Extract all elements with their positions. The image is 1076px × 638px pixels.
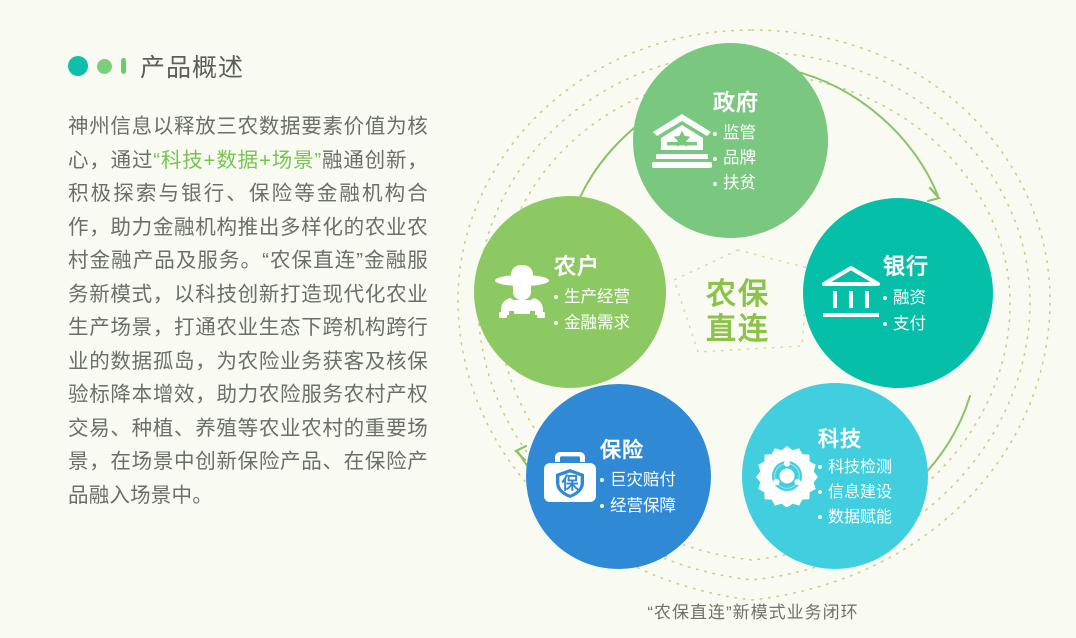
node-item: 生产经营 xyxy=(554,284,630,310)
node-insurance[interactable]: 保 保险 巨灾赔付 经营保障 xyxy=(526,384,711,569)
node-item: 金融需求 xyxy=(554,310,630,336)
diagram-center-label: 农保 直连 xyxy=(678,262,798,362)
node-title: 科技 xyxy=(818,423,892,453)
node-item-label: 融资 xyxy=(893,285,926,311)
node-item: 巨灾赔付 xyxy=(600,467,676,493)
bullet-icon xyxy=(554,321,558,325)
overview-panel: 产品概述 神州信息以释放三农数据要素价值为核心，通过“科技+数据+场景”融通创新… xyxy=(68,48,428,512)
node-item: 融资 xyxy=(883,285,929,311)
node-farmer-text: 农户 生产经营 金融需求 xyxy=(554,249,630,336)
bullet-icon xyxy=(554,295,558,299)
node-bank-text: 银行 融资 支付 xyxy=(883,249,929,337)
node-title: 保险 xyxy=(600,434,676,464)
node-item: 信息建设 xyxy=(818,480,892,505)
node-item-label: 监管 xyxy=(723,121,756,146)
bullet-icon xyxy=(818,465,822,469)
node-item-label: 经营保障 xyxy=(610,493,676,519)
farmer-icon xyxy=(490,262,554,322)
government-building-icon xyxy=(651,112,713,170)
node-government-text: 政府 监管 品牌 扶贫 xyxy=(713,85,759,196)
svg-text:保: 保 xyxy=(561,473,580,493)
slide-canvas: 产品概述 神州信息以释放三农数据要素价值为核心，通过“科技+数据+场景”融通创新… xyxy=(0,0,1076,638)
node-title: 银行 xyxy=(883,249,929,281)
gear-icon xyxy=(756,445,818,507)
bullet-icon xyxy=(600,478,604,482)
node-item-label: 数据赋能 xyxy=(828,505,892,530)
green-bar-icon xyxy=(121,58,126,74)
node-item-label: 生产经营 xyxy=(564,284,630,310)
node-item-label: 巨灾赔付 xyxy=(610,467,676,493)
teal-dot-icon xyxy=(68,56,88,76)
diagram-caption: “农保直连”新模式业务闭环 xyxy=(430,598,1076,623)
center-label-line1: 农保 xyxy=(706,277,770,312)
bullet-icon xyxy=(713,157,717,161)
bullet-icon xyxy=(713,132,717,136)
node-item: 科技检测 xyxy=(818,455,892,480)
bullet-icon xyxy=(713,182,717,186)
node-item: 经营保障 xyxy=(600,493,676,519)
node-farmer[interactable]: 农户 生产经营 金融需求 xyxy=(474,196,666,388)
node-insurance-text: 保险 巨灾赔付 经营保障 xyxy=(600,434,676,519)
bullet-icon xyxy=(883,322,887,326)
node-item: 扶贫 xyxy=(713,171,759,196)
node-government[interactable]: 政府 监管 品牌 扶贫 xyxy=(633,43,828,238)
node-item: 品牌 xyxy=(713,146,759,171)
node-item: 支付 xyxy=(883,311,929,337)
page-title: 产品概述 xyxy=(140,48,244,84)
overview-paragraph: 神州信息以释放三农数据要素价值为核心，通过“科技+数据+场景”融通创新，积极探索… xyxy=(68,110,428,512)
bullet-icon xyxy=(883,296,887,300)
paragraph-part-2: 融通创新，积极探索与银行、保险等金融机构合作，助力金融机构推出多样化的农业农村金… xyxy=(68,149,428,507)
bullet-icon xyxy=(600,504,604,508)
bank-columns-icon xyxy=(819,264,883,322)
bullet-icon xyxy=(818,515,822,519)
node-item-label: 品牌 xyxy=(723,146,756,171)
node-item-label: 扶贫 xyxy=(723,171,756,196)
node-title: 政府 xyxy=(713,85,759,117)
node-title: 农户 xyxy=(554,249,630,281)
bullet-icon xyxy=(818,490,822,494)
paragraph-highlight: “科技+数据+场景” xyxy=(153,149,321,172)
node-technology-text: 科技 科技检测 信息建设 数据赋能 xyxy=(818,423,892,530)
green-dot-icon xyxy=(97,59,112,74)
node-item-label: 信息建设 xyxy=(828,480,892,505)
node-item-label: 金融需求 xyxy=(564,310,630,336)
node-technology[interactable]: 科技 科技检测 信息建设 数据赋能 xyxy=(742,383,928,569)
business-loop-diagram: 政府 监管 品牌 扶贫 银行 融资 支付 xyxy=(430,0,1076,638)
node-item: 数据赋能 xyxy=(818,505,892,530)
node-item-label: 支付 xyxy=(893,311,926,337)
center-label-line2: 直连 xyxy=(706,312,770,347)
node-bank[interactable]: 银行 融资 支付 xyxy=(803,198,993,388)
node-item-label: 科技检测 xyxy=(828,455,892,480)
section-heading: 产品概述 xyxy=(68,48,428,84)
insurance-case-shield-icon: 保 xyxy=(540,448,600,506)
node-item: 监管 xyxy=(713,121,759,146)
